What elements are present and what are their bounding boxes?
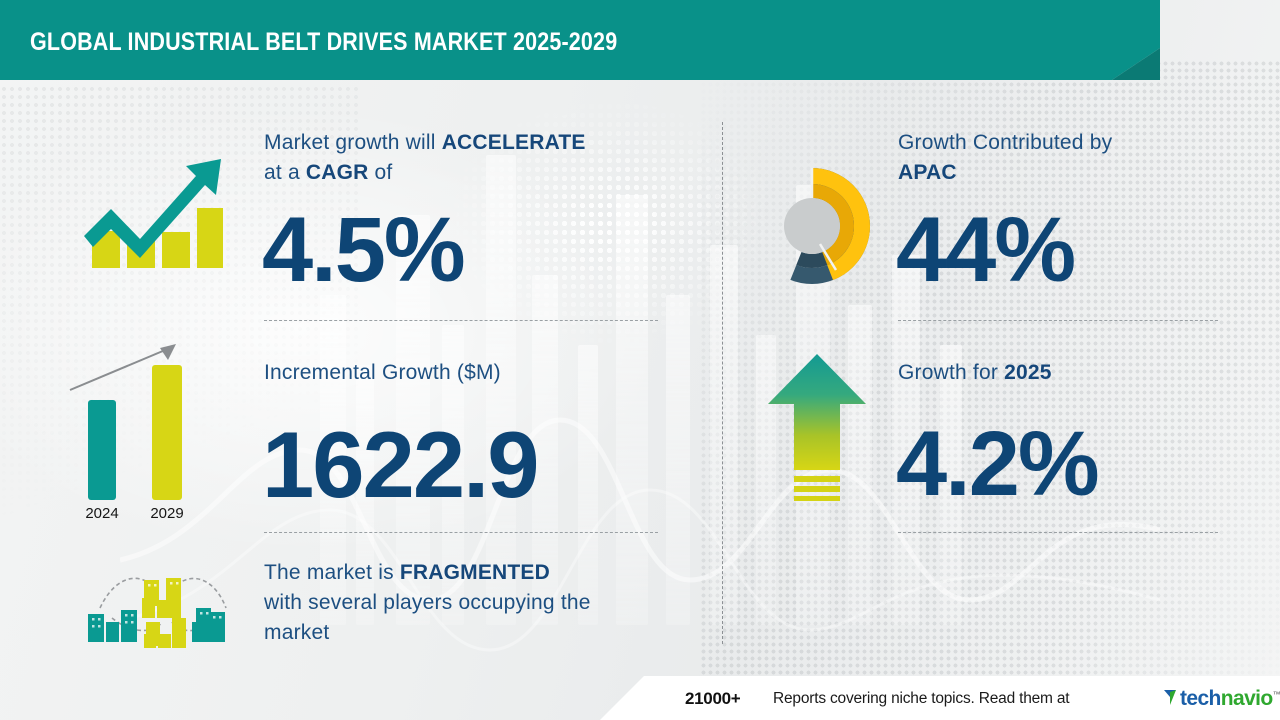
growth-2025-text: Growth for: [898, 361, 1004, 384]
fragmentation-text-2: with several players occupying the: [264, 591, 591, 614]
cagr-label-accelerate: ACCELERATE: [442, 131, 586, 154]
fragmentation-text-3: market: [264, 621, 329, 644]
cagr-label-cagr: CAGR: [306, 161, 369, 184]
trademark-symbol: ™: [1273, 690, 1280, 699]
footer-tagline: Reports covering niche topics. Read them…: [773, 690, 1069, 708]
technavio-logo-mark: [1163, 689, 1179, 706]
cagr-label: Market growth will ACCELERATE at a CAGR …: [264, 128, 664, 188]
right-divider-2: [898, 532, 1218, 533]
svg-text:2029: 2029: [150, 505, 183, 520]
apac-label-region: APAC: [898, 161, 957, 184]
left-divider-1: [264, 320, 658, 321]
logo-text-navio: navio: [1221, 687, 1273, 710]
up-arrow-icon: [762, 348, 872, 508]
logo-text-tech: tech: [1180, 687, 1221, 710]
technavio-logo[interactable]: technavio™: [1180, 687, 1280, 711]
growth-2025-value: 4.2%: [896, 418, 1098, 510]
fragmentation-label: The market is FRAGMENTED with several pl…: [264, 558, 684, 648]
growth-2025-label: Growth for 2025: [898, 358, 1228, 388]
column-divider: [722, 122, 723, 644]
infographic-canvas: GLOBAL INDUSTRIAL BELT DRIVES MARKET 202…: [0, 0, 1280, 720]
svg-text:2024: 2024: [85, 505, 118, 520]
cagr-label-text-1: Market growth will: [264, 131, 442, 154]
reports-count: 21000+: [685, 689, 740, 709]
page-title: GLOBAL INDUSTRIAL BELT DRIVES MARKET 202…: [30, 28, 617, 57]
two-bar-chart-icon: 2024 2029: [62, 330, 227, 520]
cagr-label-text-3: of: [369, 161, 393, 184]
donut-chart-icon: [746, 160, 878, 292]
cagr-value: 4.5%: [262, 204, 464, 296]
left-divider-2: [264, 532, 658, 533]
incremental-growth-value: 1622.9: [262, 418, 538, 512]
growth-chart-icon: [70, 140, 230, 290]
fragmentation-fragmented: FRAGMENTED: [400, 561, 550, 584]
city-clusters-icon: [76, 556, 241, 652]
cagr-label-text-2: at a: [264, 161, 306, 184]
right-divider-1: [898, 320, 1218, 321]
fragmentation-text-1: The market is: [264, 561, 400, 584]
apac-label-text: Growth Contributed by: [898, 131, 1112, 154]
incremental-growth-label: Incremental Growth ($M): [264, 358, 664, 388]
growth-2025-year: 2025: [1004, 361, 1052, 384]
apac-value: 44%: [896, 204, 1074, 296]
apac-label: Growth Contributed by APAC: [898, 128, 1228, 188]
